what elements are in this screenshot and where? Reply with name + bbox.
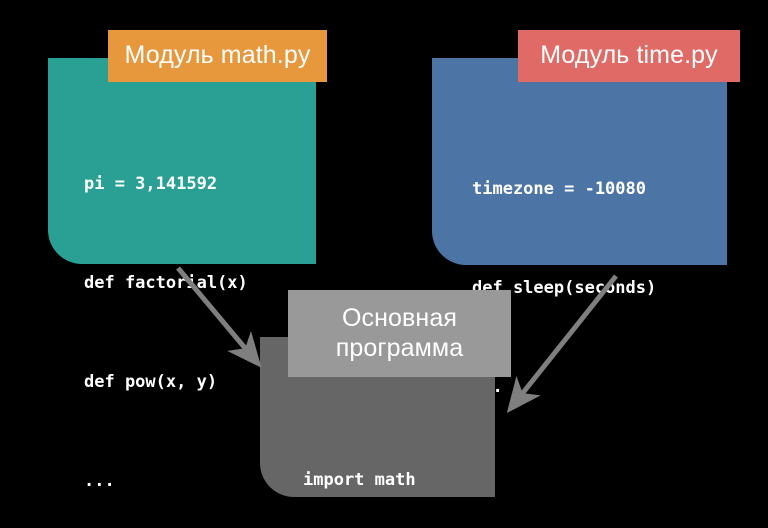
time-module-label: Модуль time.py — [518, 30, 740, 82]
main-program-code: import math import time — [303, 398, 416, 528]
main-program-label-line-2: программа — [336, 334, 463, 364]
math-module-label: Модуль math.py — [108, 30, 327, 82]
code-line: timezone = -10080 — [472, 173, 656, 206]
code-line: pi = 3,141592 — [84, 168, 248, 201]
math-module-code: pi = 3,141592 def factorial(x) def pow(x… — [84, 102, 248, 528]
main-program-label-line-1: Основная — [342, 304, 457, 334]
code-line: def factorial(x) — [84, 267, 248, 300]
time-module-code: timezone = -10080 def sleep(seconds) ... — [472, 107, 656, 470]
main-program-label: Основная программа — [288, 290, 511, 377]
diagram-canvas: Модуль math.py pi = 3,141592 def factori… — [0, 0, 768, 528]
code-line: import math — [303, 464, 416, 497]
code-line: def pow(x, y) — [84, 366, 248, 399]
code-line: ... — [84, 465, 248, 498]
